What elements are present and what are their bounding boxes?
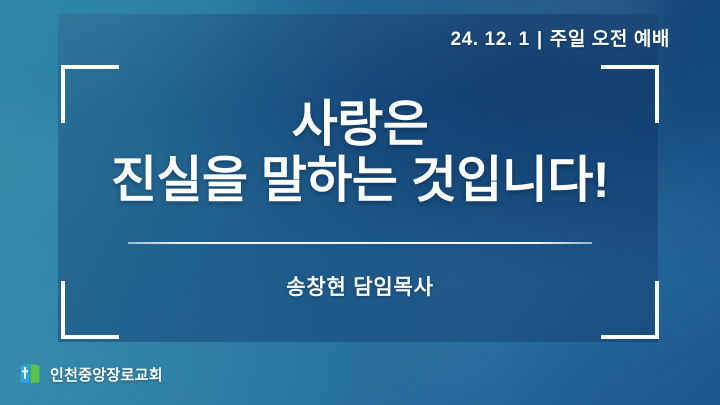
open-book-cross-icon [18,362,42,386]
sermon-title-line-2: 진실을 말하는 것입니다! [0,152,720,208]
sermon-title-line-1: 사랑은 [0,96,720,152]
header-date: 24. 12. 1 [450,29,529,50]
sermon-title-slide: 24. 12. 1|주일 오전 예배 사랑은 진실을 말하는 것입니다! 송창현… [0,0,720,405]
header-separator: | [530,29,550,51]
speaker-name: 송창현 담임목사 [0,271,720,301]
church-logo: 인천중앙장로교회 [18,362,163,386]
header-service-name: 주일 오전 예배 [550,29,670,50]
sermon-title-block: 사랑은 진실을 말하는 것입니다! [0,96,720,208]
header-service-info: 24. 12. 1|주일 오전 예배 [450,24,670,51]
title-divider [128,242,592,244]
church-name-label: 인천중앙장로교회 [50,364,163,385]
